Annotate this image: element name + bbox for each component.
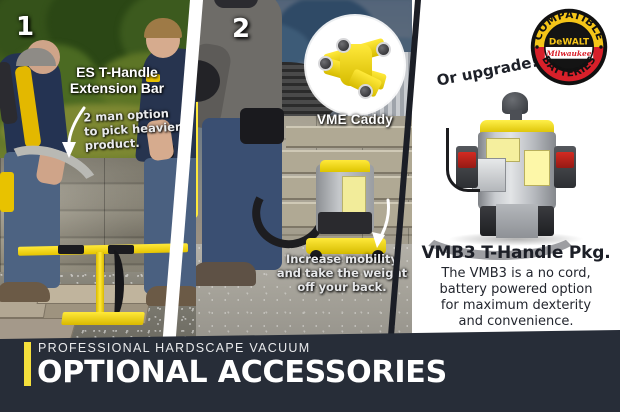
vacuum-lid [320, 160, 370, 172]
milwaukee-wordmark: Milwaukee [546, 49, 592, 58]
poster-canvas: VME Caddy [0, 0, 620, 412]
curved-down-arrow-icon [58, 106, 92, 160]
bottom-banner: PROFESSIONAL HARDSCAPE VACUUM OPTIONAL A… [0, 330, 620, 412]
vmb3-desc-line-3: for maximum dexterity [412, 298, 620, 314]
vacuum-warning-label [342, 176, 366, 216]
dewalt-wordmark: DeWALT [549, 38, 590, 48]
panel-number-1: 1 [16, 12, 34, 42]
compatible-batteries-badge: COMPATIBLE BATTERIES DeWALT Milwaukee [530, 8, 608, 86]
vme-caddy-illustration [306, 16, 404, 114]
vmb3-product-description: The VMB3 is a no cord, battery powered o… [412, 266, 620, 330]
caddy-caster-wheel [358, 84, 373, 99]
es-title-line-2: Extension Bar [52, 80, 182, 96]
es-t-handle-caption: 2 man option to pick heavier product. [83, 105, 185, 152]
suction-hose-curve [98, 250, 124, 318]
vacuum-suction-plate [61, 312, 145, 325]
vmb3-center-strap [496, 204, 538, 238]
es-t-handle-title: ES T-Handle Extension Bar [52, 64, 182, 96]
caddy-caster-wheel [318, 56, 333, 71]
vmb3-desc-line-4: and convenience. [412, 314, 620, 330]
vmb3-caution-label [524, 150, 550, 186]
p2-caption-line-1: Increase mobility [276, 252, 408, 266]
vmb3-product-title: VMB3 T-Handle Pkg. [412, 243, 620, 263]
caddy-caster-wheel [376, 42, 391, 57]
curved-down-arrow-icon [368, 198, 394, 250]
worker-left-boot [0, 282, 50, 302]
vme-caddy-label: VME Caddy [306, 112, 404, 127]
vmb3-power-cord [446, 128, 480, 192]
es-title-line-1: ES T-Handle [52, 64, 182, 80]
p2-caption-line-3: off your back. [276, 280, 408, 294]
banner-title-text: OPTIONAL ACCESSORIES [37, 355, 447, 390]
worker-head [214, 0, 258, 8]
t-handle-bar-vertical [196, 96, 198, 218]
bar-grip [58, 245, 84, 254]
vmb3-battery-right [554, 146, 576, 188]
caddy-caster-wheel [336, 38, 351, 53]
vmb3-desc-line-1: The VMB3 is a no cord, [412, 266, 620, 282]
vmb3-desc-line-2: battery powered option [412, 282, 620, 298]
vme-caddy-inset-photo [306, 16, 404, 114]
step [286, 126, 412, 148]
banner-accent-bar [24, 342, 31, 386]
vacuum-unit-on-caddy [316, 160, 374, 242]
worker-boot [196, 262, 256, 286]
panel-number-2: 2 [232, 14, 250, 44]
vacuum-lower-shroud [318, 212, 372, 234]
banner-kicker-text: PROFESSIONAL HARDSCAPE VACUUM [38, 341, 310, 355]
worker-tool-belt [240, 108, 284, 144]
badge-svg: COMPATIBLE BATTERIES DeWALT Milwaukee [530, 8, 608, 86]
p2-caption-line-2: and take the weight [276, 266, 408, 280]
vme-caddy-caption: Increase mobility and take the weight of… [276, 252, 408, 294]
